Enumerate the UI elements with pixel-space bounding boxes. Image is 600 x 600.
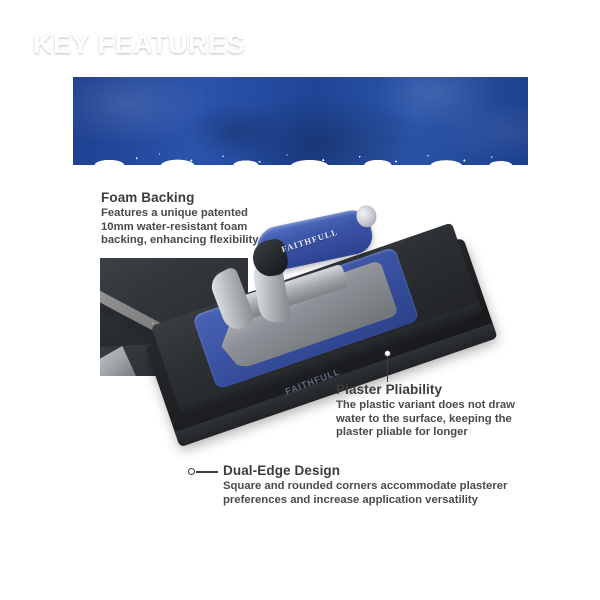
callout-title-plaster-pliability: Plaster Pliability <box>336 382 515 397</box>
callout-line: Square and rounded corners accommodate p… <box>223 480 507 494</box>
infographic-page: KEY FEATURES FAITHFULL <box>0 0 600 600</box>
callout-body-plaster-pliability: The plastic variant does not draw water … <box>336 399 515 440</box>
leader-line-dual-edge-design <box>196 471 218 472</box>
callout-dual-edge-design: Dual-Edge Design Square and rounded corn… <box>223 463 507 507</box>
callout-line: Features a unique patented <box>101 207 259 221</box>
leader-dot-plaster-pliability <box>384 350 391 357</box>
page-title: KEY FEATURES <box>33 29 245 60</box>
callout-line: The plastic variant does not draw <box>336 399 515 413</box>
callout-line: plaster pliable for longer <box>336 426 515 440</box>
callout-body-dual-edge-design: Square and rounded corners accommodate p… <box>223 480 507 507</box>
leader-dot-dual-edge-design <box>188 468 195 475</box>
callout-line: backing, enhancing flexibility <box>101 234 259 248</box>
key-features-banner <box>73 77 528 165</box>
callout-title-dual-edge-design: Dual-Edge Design <box>223 463 507 478</box>
callout-body-foam-backing: Features a unique patented 10mm water-re… <box>101 207 259 248</box>
callout-foam-backing: Foam Backing Features a unique patented … <box>101 190 259 248</box>
callout-title-foam-backing: Foam Backing <box>101 190 259 205</box>
callout-line: 10mm water-resistant foam <box>101 221 259 235</box>
callout-line: preferences and increase application ver… <box>223 494 507 508</box>
callout-line: water to the surface, keeping the <box>336 413 515 427</box>
banner-texture <box>73 77 528 165</box>
leader-line-plaster-pliability <box>387 357 388 382</box>
callout-plaster-pliability: Plaster Pliability The plastic variant d… <box>336 382 515 440</box>
